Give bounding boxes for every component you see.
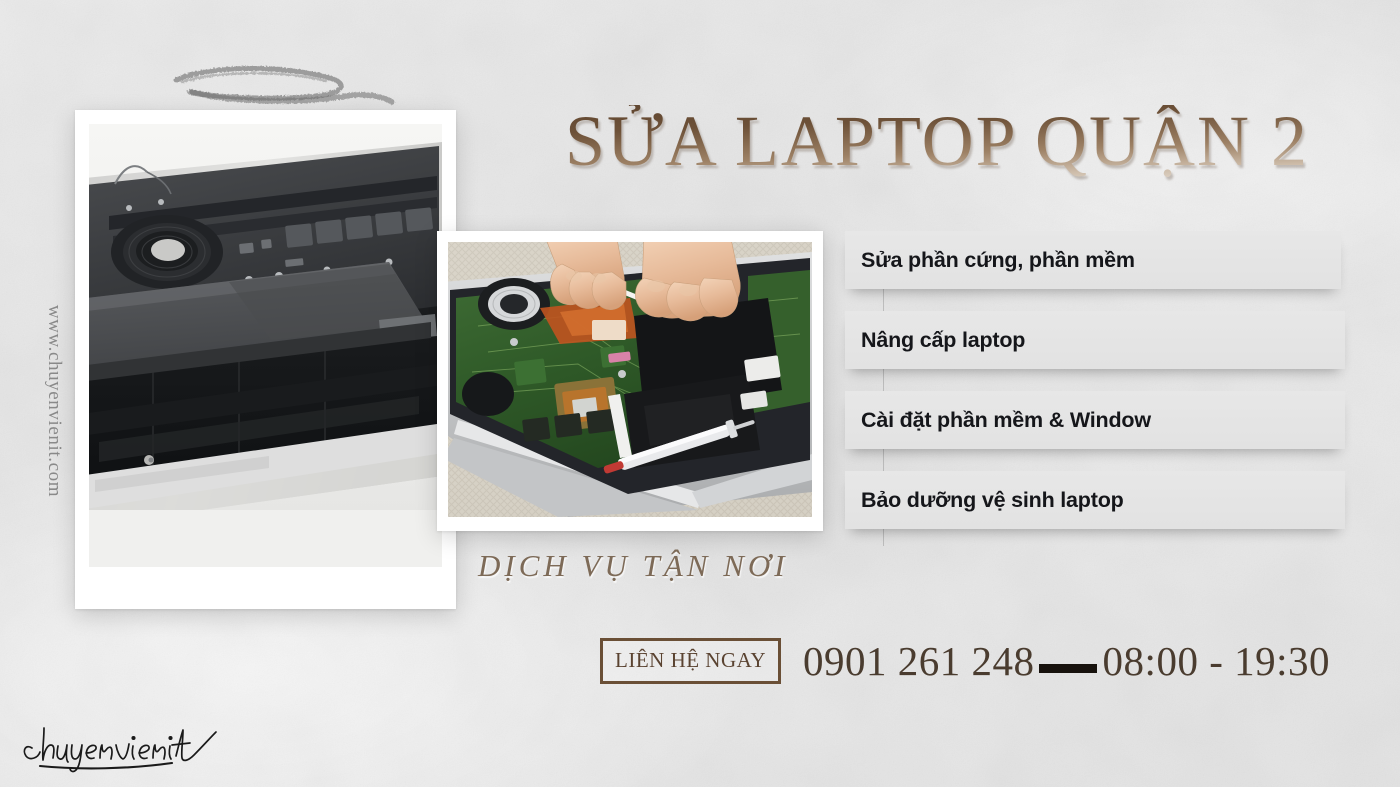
service-item-2[interactable]: Nâng cấp laptop — [845, 311, 1345, 369]
separator-dash-icon — [1039, 664, 1097, 673]
website-url-vertical: www.chuyenvienit.com — [43, 251, 65, 551]
service-label-2: Nâng cấp laptop — [861, 328, 1025, 353]
page-title: SỬA LAPTOP QUẬN 2 — [565, 105, 1325, 177]
contact-row: LIÊN HỆ NGAY 0901 261 248 08:00 - 19:30 — [600, 637, 1330, 685]
photo-image-2 — [448, 242, 812, 517]
pencil-scribble-icon — [168, 52, 398, 114]
contact-cta-button[interactable]: LIÊN HỆ NGAY — [600, 638, 781, 684]
opening-hours: 08:00 - 19:30 — [1103, 637, 1330, 685]
tagline: DỊCH VỤ TẬN NƠI — [478, 548, 789, 584]
photo-image-1 — [89, 124, 442, 567]
services-list: Sửa phần cứng, phần mềm Nâng cấp laptop … — [845, 231, 1345, 529]
technician-repair-photo — [437, 231, 823, 531]
service-label-4: Bảo dưỡng vệ sinh laptop — [861, 488, 1124, 513]
service-label-1: Sửa phần cứng, phần mềm — [861, 248, 1135, 273]
poster-canvas: www.chuyenvienit.com — [0, 0, 1400, 787]
contact-cta-label: LIÊN HỆ NGAY — [615, 648, 766, 672]
phone-and-hours: 0901 261 248 08:00 - 19:30 — [803, 637, 1330, 685]
service-item-3[interactable]: Cài đặt phần mềm & Window — [845, 391, 1345, 449]
service-item-4[interactable]: Bảo dưỡng vệ sinh laptop — [845, 471, 1345, 529]
service-item-1[interactable]: Sửa phần cứng, phần mềm — [845, 231, 1341, 289]
disassembled-laptop-photo — [75, 110, 456, 609]
brand-logo — [20, 714, 270, 776]
service-label-3: Cài đặt phần mềm & Window — [861, 408, 1151, 433]
phone-number[interactable]: 0901 261 248 — [803, 637, 1035, 685]
